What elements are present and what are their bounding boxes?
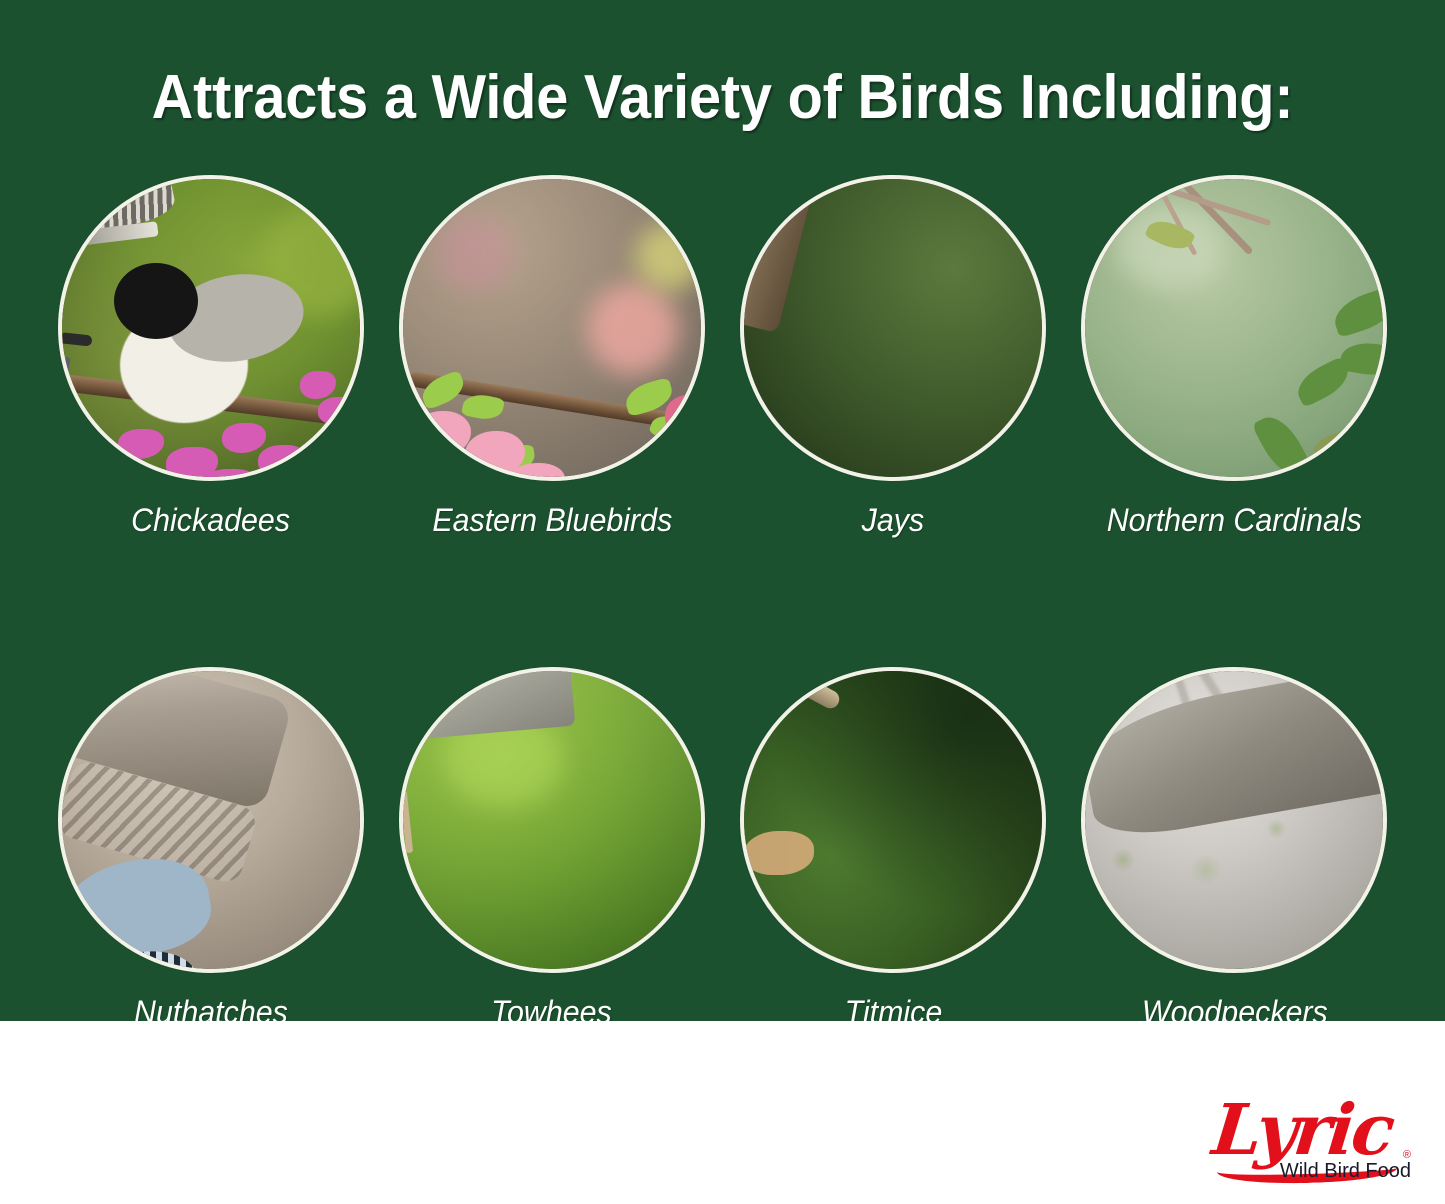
bird-photo-towhees — [399, 667, 705, 973]
chickadee-illustration — [62, 179, 360, 477]
bird-tile-woodpeckers: Woodpeckers — [1064, 667, 1405, 1031]
northern-cardinal-illustration — [1085, 179, 1383, 477]
bird-tile-eastern-bluebirds: Eastern Bluebirds — [381, 175, 722, 539]
bird-tile-towhees: Towhees — [381, 667, 722, 1031]
bird-photo-nuthatches — [58, 667, 364, 973]
brand-logo: Lyric ® Wild Bird Food — [1213, 1097, 1413, 1189]
bird-photo-jays — [740, 175, 1046, 481]
page-title: Attracts a Wide Variety of Birds Includi… — [51, 62, 1395, 134]
bird-label: Jays — [862, 501, 925, 539]
bird-tile-jays: Jays — [723, 175, 1064, 539]
bird-photo-northern-cardinals — [1081, 175, 1387, 481]
blue-jay-illustration — [744, 179, 1042, 477]
bird-photo-woodpeckers — [1081, 667, 1387, 973]
bird-tile-titmice: Titmice — [723, 667, 1064, 1031]
bird-tile-chickadees: Chickadees — [40, 175, 381, 539]
bird-label: Eastern Bluebirds — [432, 501, 672, 539]
bird-tile-nuthatches: Nuthatches — [40, 667, 381, 1031]
woodpecker-illustration — [1085, 671, 1383, 969]
bird-photo-titmice — [740, 667, 1046, 973]
logo-wordmark: Lyric — [1209, 1093, 1417, 1167]
bird-grid: Chickadees — [40, 175, 1405, 1031]
bird-label: Northern Cardinals — [1107, 501, 1362, 539]
nuthatch-illustration — [62, 671, 360, 969]
titmouse-illustration — [744, 671, 1042, 969]
bird-label: Chickadees — [131, 501, 290, 539]
bird-photo-chickadees — [58, 175, 364, 481]
logo-tagline: Wild Bird Food — [1280, 1159, 1411, 1183]
bird-tile-northern-cardinals: Northern Cardinals — [1064, 175, 1405, 539]
eastern-bluebird-illustration — [403, 179, 701, 477]
towhee-illustration — [403, 671, 701, 969]
poster-root: Attracts a Wide Variety of Birds Includi… — [0, 0, 1445, 1204]
bird-photo-eastern-bluebirds — [399, 175, 705, 481]
